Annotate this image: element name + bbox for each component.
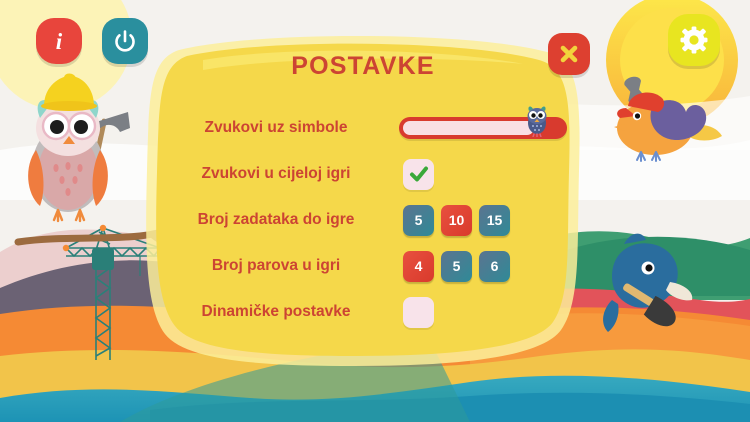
close-button[interactable]	[548, 33, 590, 75]
row-control: 5 10 15	[403, 205, 571, 236]
row-control	[403, 159, 571, 190]
tasks-count-option-2[interactable]: 10	[441, 205, 472, 236]
check-icon	[408, 163, 430, 185]
power-icon	[111, 27, 139, 55]
app-screen: POSTAVKE Zvukovi uz simbole	[0, 0, 750, 422]
setting-row-pairs-count: Broj parova u igri 4 5 6	[155, 243, 571, 289]
setting-row-tasks-count: Broj zadataka do igre 5 10 15	[155, 197, 571, 243]
row-control: 4 5 6	[403, 251, 571, 282]
sounds-with-symbols-slider[interactable]	[399, 117, 567, 139]
row-label: Broj zadataka do igre	[155, 211, 403, 229]
pairs-count-option-2[interactable]: 5	[441, 251, 472, 282]
setting-row-sounds-with-symbols: Zvukovi uz simbole	[155, 105, 571, 151]
settings-panel: POSTAVKE Zvukovi uz simbole	[143, 30, 583, 370]
pairs-count-option-3[interactable]: 6	[479, 251, 510, 282]
pairs-count-options: 4 5 6	[403, 251, 510, 282]
tasks-count-options: 5 10 15	[403, 205, 510, 236]
tasks-count-option-1[interactable]: 5	[403, 205, 434, 236]
tasks-count-option-3[interactable]: 15	[479, 205, 510, 236]
svg-text:i: i	[56, 29, 63, 54]
row-label: Dinamičke postavke	[155, 303, 403, 321]
row-control	[403, 117, 571, 139]
settings-rows: Zvukovi uz simbole	[155, 105, 571, 335]
row-control	[403, 297, 571, 328]
dynamic-settings-checkbox[interactable]	[403, 297, 434, 328]
row-label: Zvukovi uz simbole	[155, 119, 403, 137]
setting-row-sounds-whole-game: Zvukovi u cijeloj igri	[155, 151, 571, 197]
row-label: Broj parova u igri	[155, 257, 403, 275]
page-title: POSTAVKE	[143, 52, 583, 81]
info-icon: i	[45, 27, 73, 55]
settings-gear-button[interactable]	[668, 14, 720, 66]
setting-row-dynamic-settings: Dinamičke postavke	[155, 289, 571, 335]
row-label: Zvukovi u cijeloj igri	[155, 165, 403, 183]
pairs-count-option-1[interactable]: 4	[403, 251, 434, 282]
info-button[interactable]: i	[36, 18, 82, 64]
power-button[interactable]	[102, 18, 148, 64]
owl-handle-icon[interactable]	[524, 103, 550, 137]
close-x-icon	[556, 41, 582, 67]
sounds-whole-game-checkbox[interactable]	[403, 159, 434, 190]
slider-fill	[403, 121, 534, 135]
gear-icon	[678, 24, 710, 56]
